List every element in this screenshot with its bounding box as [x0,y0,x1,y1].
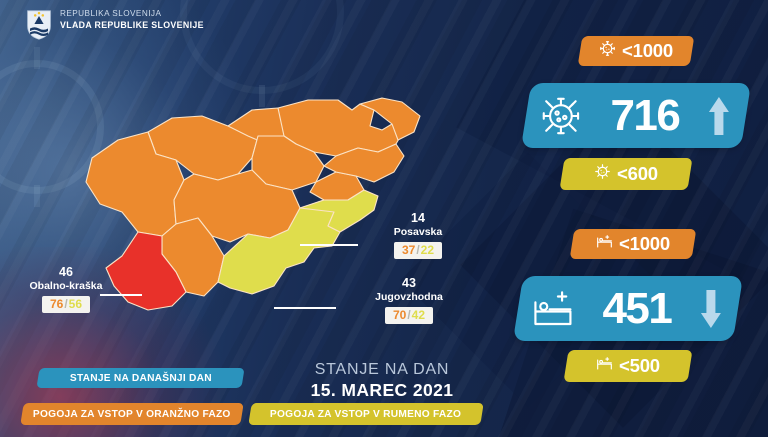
hospital-threshold-yellow-value: <500 [619,355,660,377]
legend-orange-phase-badge: POGOJA ZA VSTOP V ORANŽNO FAZO [20,403,243,425]
hospital-bed-icon [596,356,613,376]
hospital-bed-icon [530,289,576,329]
hospital-main-panel: 451 [513,276,743,341]
hospital-bed-icon [596,234,613,254]
gov-line-government: VLADA REPUBLIKE SLOVENIJE [60,20,204,31]
callout-number: 43 [338,277,480,291]
cases-threshold-orange-badge: <1000 [578,36,695,66]
ratio-yellow-value: 56 [69,297,82,311]
callout-region-name: Obalno-kraška [6,280,126,293]
ratio-yellow-value: 42 [412,308,425,322]
ratio-orange-value: 37 [402,243,415,257]
hospital-threshold-orange-badge: <1000 [570,229,697,259]
virus-icon [594,163,611,185]
date-value: 15. MAREC 2021 [282,380,482,401]
legend-today-badge: STANJE NA DANAŠNJI DAN [36,368,244,388]
callout-region-name: Posavska [358,226,478,239]
callout-obalno-kraska: 46 Obalno-kraška 76/56 [6,266,126,313]
hospital-trend-down-icon [698,288,724,330]
ratio-orange-value: 70 [393,308,406,322]
callout-ratio-box: 70/42 [385,307,433,325]
hospital-threshold-orange-value: <1000 [619,233,670,255]
callout-number: 46 [6,266,126,280]
legend-yellow-phase-badge: POGOJA ZA VSTOP V RUMENO FAZO [248,403,483,425]
virus-icon [599,40,616,62]
ratio-orange-value: 76 [50,297,63,311]
ratio-yellow-value: 22 [421,243,434,257]
date-caption: STANJE NA DAN [282,361,482,379]
gov-line-republic: REPUBLIKA SLOVENIJA [60,9,204,19]
cases-trend-up-icon [706,95,732,137]
cases-threshold-yellow-badge: <600 [559,158,692,190]
callout-region-name: Jugovzhodna [338,291,480,304]
leader-line-jugovzhodna [274,307,336,309]
infographic-root: REPUBLIKA SLOVENIJA VLADA REPUBLIKE SLOV… [0,0,768,437]
cases-main-panel: 716 [521,83,751,148]
legend-orange-label: POGOJA ZA VSTOP V ORANŽNO FAZO [33,409,231,420]
date-block: STANJE NA DAN 15. MAREC 2021 [282,361,482,401]
callout-ratio-box: 37/22 [394,242,442,260]
cases-threshold-yellow-value: <600 [617,163,658,185]
hospital-value: 451 [576,287,698,331]
hospital-threshold-yellow-badge: <500 [563,350,692,382]
government-wordmark: REPUBLIKA SLOVENIJA VLADA REPUBLIKE SLOV… [60,9,204,31]
callout-jugovzhodna: 43 Jugovzhodna 70/42 [338,277,480,324]
virus-icon [538,95,584,137]
legend-today-label: STANJE NA DANAŠNJI DAN [70,373,212,384]
cases-threshold-orange-value: <1000 [622,40,673,62]
legend-yellow-label: POGOJA ZA VSTOP V RUMENO FAZO [270,409,461,420]
cases-value: 716 [584,94,706,138]
slovenia-coat-of-arms-icon [26,10,52,40]
leader-line-posavska [300,244,358,246]
stats-column: <1000 716 [500,0,768,437]
callout-ratio-box: 76/56 [42,296,90,314]
callout-number: 14 [358,212,478,226]
callout-posavska: 14 Posavska 37/22 [358,212,478,259]
